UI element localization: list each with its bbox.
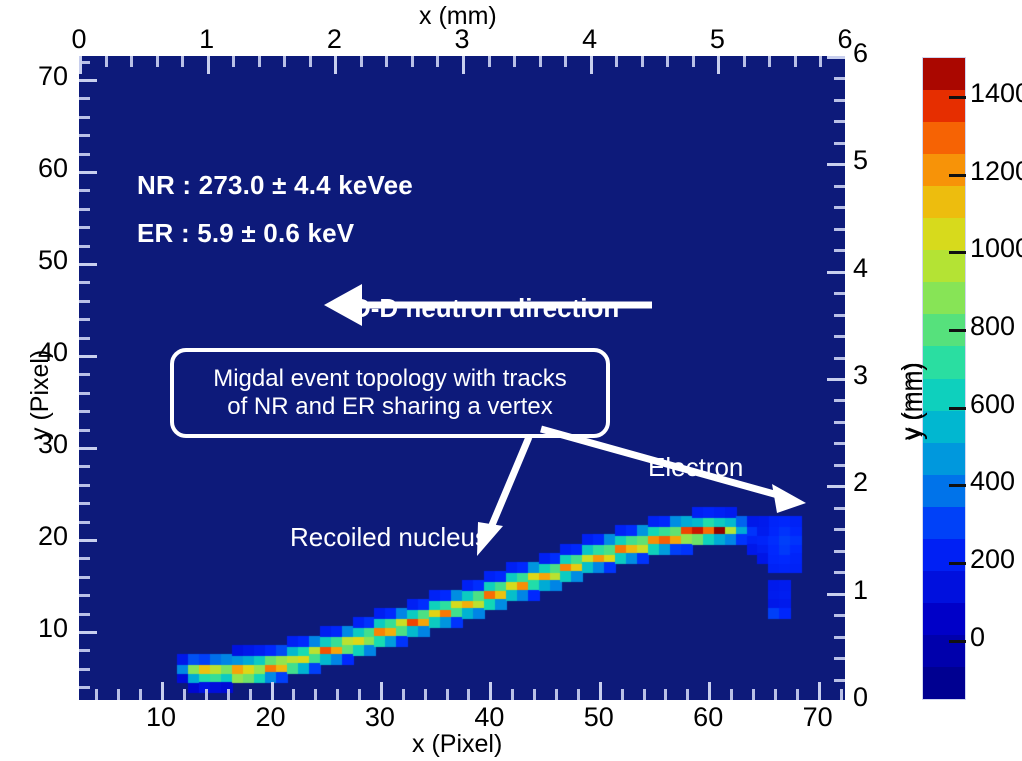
tick-mark (402, 689, 405, 700)
colorbar-band (923, 218, 965, 251)
tick-mark (336, 689, 339, 700)
tick-mark (358, 689, 361, 700)
tick-mark (205, 689, 208, 700)
tick-mark (79, 410, 90, 413)
tick-mark (621, 689, 624, 700)
tick-mark (834, 421, 845, 424)
tick-mark (834, 507, 845, 510)
tick-mark (834, 185, 845, 188)
colorbar-band (923, 58, 965, 91)
colorbar-ticklabel-7: 1400 (970, 78, 1022, 109)
tick-mark (730, 689, 733, 700)
colorbar-band (923, 507, 965, 540)
tick-mark (834, 292, 845, 295)
colorbar-tick-7 (949, 96, 966, 99)
top-tick-4: 4 (560, 24, 620, 55)
tick-mark (818, 682, 821, 700)
tick-mark (692, 56, 695, 67)
tick-mark (840, 689, 843, 700)
topology-line-1: Migdal event topology with tracks (213, 365, 567, 393)
er-energy-annotation: ER : 5.9 ± 0.6 keV (137, 218, 354, 249)
tick-mark (641, 56, 644, 67)
colorbar-ticklabel-1: 200 (970, 544, 1015, 575)
tick-mark (834, 571, 845, 574)
tick-mark (79, 576, 90, 579)
bottom-tick-6: 70 (788, 702, 848, 733)
right-tick-3: 3 (853, 360, 893, 391)
tick-mark (834, 335, 845, 338)
tick-mark (117, 689, 120, 700)
tick-mark (360, 56, 363, 67)
left-tick-2: 30 (0, 429, 68, 460)
tick-mark (564, 56, 567, 67)
tick-mark (827, 163, 845, 166)
tick-mark (79, 373, 90, 376)
neutron-direction-label: D-D neutron direction (352, 293, 619, 324)
colorbar-band (923, 411, 965, 444)
tick-mark (819, 56, 822, 67)
tick-mark (79, 429, 90, 432)
left-tick-0: 10 (0, 613, 68, 644)
tick-mark (79, 521, 90, 524)
colorbar-ticklabel-2: 400 (970, 466, 1015, 497)
bottom-tick-2: 30 (350, 702, 410, 733)
tick-mark (79, 318, 90, 321)
tick-mark (79, 189, 90, 192)
bottom-axis-title: x (Pixel) (412, 730, 502, 759)
tick-mark (794, 56, 797, 67)
tick-mark (79, 465, 90, 468)
tick-mark (79, 631, 97, 634)
colorbar-tick-1 (949, 562, 966, 565)
tick-mark (834, 99, 845, 102)
tick-mark (79, 171, 97, 174)
tick-mark (183, 689, 186, 700)
tick-mark (380, 682, 383, 700)
colorbar-band (923, 346, 965, 379)
tick-mark (79, 208, 90, 211)
tick-mark (79, 392, 90, 395)
tick-mark (774, 689, 777, 700)
tick-mark (834, 614, 845, 617)
colorbar-tick-5 (949, 251, 966, 254)
tick-mark (258, 56, 261, 67)
tick-mark (533, 689, 536, 700)
colorbar-tick-6 (949, 174, 966, 177)
colorbar-tick-2 (949, 484, 966, 487)
left-tick-1: 20 (0, 521, 68, 552)
topology-line-2: of NR and ER sharing a vertex (227, 393, 553, 421)
colorbar-title: y (mm) (900, 362, 929, 440)
tick-mark (717, 56, 720, 74)
top-tick-3: 3 (432, 24, 492, 55)
tick-mark (513, 56, 516, 67)
tick-mark (577, 689, 580, 700)
tick-mark (615, 56, 618, 67)
colorbar-ticklabel-4: 800 (970, 311, 1015, 342)
tick-mark (79, 668, 90, 671)
tick-mark (467, 689, 470, 700)
tick-mark (79, 134, 90, 137)
tick-mark (309, 56, 312, 67)
tick-mark (79, 56, 82, 74)
colorbar-ticklabel-5: 1000 (970, 233, 1022, 264)
colorbar-band (923, 282, 965, 315)
tick-mark (827, 56, 845, 59)
left-tick-4: 50 (0, 245, 68, 276)
tick-mark (79, 281, 90, 284)
tick-mark (489, 682, 492, 700)
tick-mark (181, 56, 184, 67)
tick-mark (79, 226, 90, 229)
tick-mark (768, 56, 771, 67)
bottom-tick-3: 40 (459, 702, 519, 733)
figure-root: x (mm) 0123456 y (Pixel) 10203040506070 … (0, 0, 1022, 761)
tick-mark (227, 689, 230, 700)
tick-mark (79, 245, 90, 248)
tick-mark (834, 142, 845, 145)
tick-mark (249, 689, 252, 700)
tick-mark (834, 249, 845, 252)
bottom-tick-1: 20 (241, 702, 301, 733)
nr-energy-annotation: NR : 273.0 ± 4.4 keVee (137, 170, 413, 201)
colorbar-band (923, 571, 965, 604)
tick-mark (79, 502, 90, 505)
tick-mark (156, 56, 159, 67)
tick-mark (79, 686, 90, 689)
tick-mark (827, 593, 845, 596)
tick-mark (139, 689, 142, 700)
tick-mark (643, 689, 646, 700)
colorbar-band (923, 154, 965, 187)
tick-mark (511, 689, 514, 700)
tick-mark (334, 56, 337, 74)
top-tick-5: 5 (687, 24, 747, 55)
tick-mark (105, 56, 108, 67)
tick-mark (79, 355, 97, 358)
tick-mark (752, 689, 755, 700)
right-tick-2: 2 (853, 467, 893, 498)
tick-mark (79, 613, 90, 616)
colorbar-band (923, 539, 965, 572)
tick-mark (79, 153, 90, 156)
tick-mark (446, 689, 449, 700)
tick-mark (424, 689, 427, 700)
tick-mark (834, 464, 845, 467)
tick-mark (539, 56, 542, 67)
tick-mark (79, 116, 90, 119)
tick-mark (664, 689, 667, 700)
tick-mark (834, 528, 845, 531)
tick-mark (666, 56, 669, 67)
tick-mark (79, 79, 97, 82)
colorbar-band (923, 250, 965, 283)
tick-mark (79, 649, 90, 652)
tick-mark (743, 56, 746, 67)
tick-mark (436, 56, 439, 67)
tick-mark (79, 484, 90, 487)
tick-mark (232, 56, 235, 67)
tick-mark (834, 679, 845, 682)
colorbar-ticklabel-0: 0 (970, 622, 985, 653)
top-tick-1: 1 (177, 24, 237, 55)
colorbar-band (923, 475, 965, 508)
tick-mark (834, 77, 845, 80)
bottom-tick-4: 50 (569, 702, 629, 733)
colorbar-band (923, 186, 965, 219)
tick-mark (130, 56, 133, 67)
right-tick-5: 5 (853, 145, 893, 176)
recoiled-nucleus-label: Recoiled nucleus (290, 522, 488, 553)
top-tick-0: 0 (49, 24, 109, 55)
tick-mark (79, 300, 90, 303)
tick-mark (462, 56, 465, 74)
bottom-tick-0: 10 (131, 702, 191, 733)
tick-mark (161, 682, 164, 700)
tick-mark (834, 228, 845, 231)
tick-mark (79, 447, 97, 450)
tick-mark (314, 689, 317, 700)
tick-mark (95, 689, 98, 700)
tick-mark (283, 56, 286, 67)
tick-mark (411, 56, 414, 67)
top-tick-2: 2 (304, 24, 364, 55)
colorbar-band (923, 603, 965, 636)
tick-mark (827, 378, 845, 381)
right-tick-4: 4 (853, 253, 893, 284)
tick-mark (79, 337, 90, 340)
right-tick-1: 1 (853, 575, 893, 606)
electron-label: Electron (648, 452, 743, 483)
tick-mark (796, 689, 799, 700)
tick-mark (834, 550, 845, 553)
tick-mark (834, 636, 845, 639)
bottom-tick-5: 60 (678, 702, 738, 733)
colorbar-band (923, 122, 965, 155)
tick-mark (555, 689, 558, 700)
tick-mark (834, 206, 845, 209)
left-tick-6: 70 (0, 61, 68, 92)
tick-mark (834, 657, 845, 660)
colorbar-tick-3 (949, 407, 966, 410)
left-tick-5: 60 (0, 153, 68, 184)
tick-mark (590, 56, 593, 74)
tick-mark (827, 271, 845, 274)
right-tick-6: 6 (853, 38, 893, 69)
tick-mark (686, 689, 689, 700)
colorbar-ticklabel-3: 600 (970, 389, 1015, 420)
tick-mark (207, 56, 210, 74)
colorbar-band (923, 667, 965, 700)
tick-mark (834, 442, 845, 445)
tick-mark (79, 594, 90, 597)
colorbar-ticklabel-6: 1200 (970, 156, 1022, 187)
tick-mark (834, 399, 845, 402)
tick-mark (79, 263, 97, 266)
tick-mark (708, 682, 711, 700)
colorbar-tick-0 (949, 640, 966, 643)
heatmap-plot-area[interactable]: NR : 273.0 ± 4.4 keVee ER : 5.9 ± 0.6 ke… (79, 56, 845, 700)
tick-mark (271, 682, 274, 700)
tick-mark (79, 557, 90, 560)
right-tick-0: 0 (853, 682, 893, 713)
tick-mark (834, 357, 845, 360)
colorbar-band (923, 443, 965, 476)
tick-mark (827, 485, 845, 488)
tick-mark (292, 689, 295, 700)
tick-mark (488, 56, 491, 67)
tick-mark (834, 120, 845, 123)
tick-mark (599, 682, 602, 700)
tick-mark (79, 97, 90, 100)
left-tick-3: 40 (0, 337, 68, 368)
tick-mark (385, 56, 388, 67)
tick-mark (79, 539, 97, 542)
colorbar-tick-4 (949, 329, 966, 332)
tick-mark (834, 314, 845, 317)
topology-callout-box: Migdal event topology with tracks of NR … (170, 348, 610, 438)
